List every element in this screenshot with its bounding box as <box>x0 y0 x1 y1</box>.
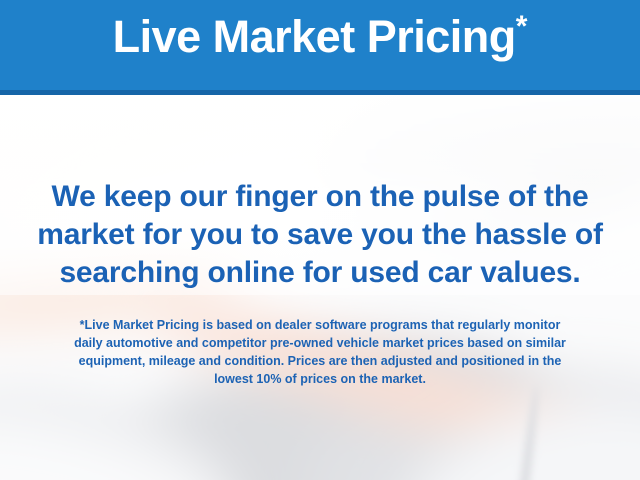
headline-line: market for you to save you the hassle of <box>20 216 620 254</box>
disclaimer-line: *Live Market Pricing is based on dealer … <box>20 316 620 334</box>
headline-line: We keep our finger on the pulse of the <box>20 178 620 216</box>
disclaimer-line: lowest 10% of prices on the market. <box>20 370 620 388</box>
page-title-asterisk: * <box>516 10 528 43</box>
disclaimer-text: *Live Market Pricing is based on dealer … <box>20 316 620 388</box>
live-market-pricing-promo-card: Live Market Pricing* We keep our finger … <box>0 0 640 480</box>
disclaimer-line: equipment, mileage and condition. Prices… <box>20 352 620 370</box>
headline-line: searching online for used car values. <box>20 254 620 292</box>
header-banner: Live Market Pricing* <box>0 0 640 95</box>
page-title-text: Live Market Pricing <box>113 11 516 62</box>
page-title: Live Market Pricing* <box>0 12 640 59</box>
headline: We keep our finger on the pulse of the m… <box>20 178 620 292</box>
disclaimer-line: daily automotive and competitor pre-owne… <box>20 334 620 352</box>
promo-copy: We keep our finger on the pulse of the m… <box>0 95 640 480</box>
